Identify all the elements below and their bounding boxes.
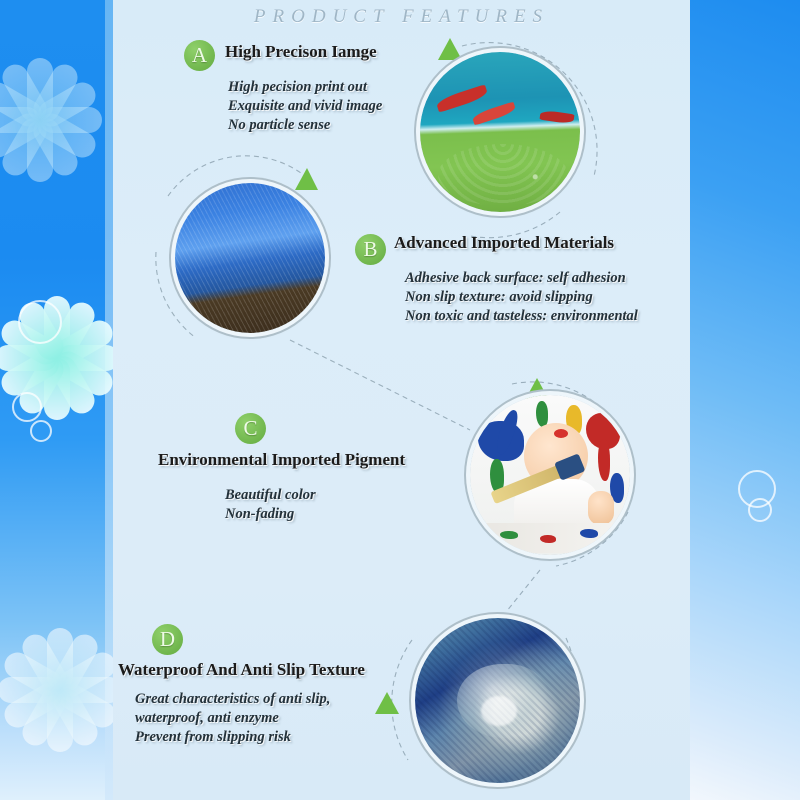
product-features-infographic: PRODUCT FEATURES (0, 0, 800, 800)
decorative-swirl-icon (30, 420, 52, 442)
feature-lines-c: Beautiful color Non-fading (225, 486, 316, 524)
decorative-swirl-icon (18, 300, 62, 344)
feature-line: Non-fading (225, 505, 316, 524)
page-title: PRODUCT FEATURES (113, 6, 690, 28)
feature-line: Exquisite and vivid image (228, 97, 382, 116)
feature-heading-d: Waterproof And Anti Slip Texture (118, 660, 365, 680)
feature-line: Beautiful color (225, 486, 316, 505)
decorative-swirl-icon (12, 392, 42, 422)
feature-heading-c: Environmental Imported Pigment (158, 450, 405, 470)
feature-line: waterproof, anti enzyme (135, 709, 330, 728)
feature-lines-d: Great characteristics of anti slip, wate… (135, 690, 330, 747)
photo-blue-fabric (175, 183, 325, 333)
feature-line: No particle sense (228, 116, 382, 135)
photo-water-texture (415, 618, 580, 783)
feature-badge-a: A (184, 40, 215, 71)
decorative-swirl-icon (748, 498, 772, 522)
right-decorative-band (690, 0, 800, 800)
feature-badge-b: B (355, 234, 386, 265)
feature-line: Adhesive back surface: self adhesion (405, 269, 638, 288)
photo-koi-pond (420, 52, 580, 212)
content-panel: PRODUCT FEATURES (113, 0, 690, 800)
feature-line: High pecision print out (228, 78, 382, 97)
left-decorative-band (0, 0, 113, 800)
feature-line: Great characteristics of anti slip, (135, 690, 330, 709)
feature-heading-b: Advanced Imported Materials (394, 233, 614, 253)
photo-baby-painting (470, 395, 630, 555)
feature-badge-c: C (235, 413, 266, 444)
feature-heading-a: High Precison Iamge (225, 42, 377, 62)
feature-line: Prevent from slipping risk (135, 728, 330, 747)
feature-line: Non slip texture: avoid slipping (405, 288, 638, 307)
feature-lines-a: High pecision print out Exquisite and vi… (228, 78, 382, 135)
feature-line: Non toxic and tasteless: environmental (405, 307, 638, 326)
feature-badge-d: D (152, 624, 183, 655)
feature-lines-b: Adhesive back surface: self adhesion Non… (405, 269, 638, 326)
